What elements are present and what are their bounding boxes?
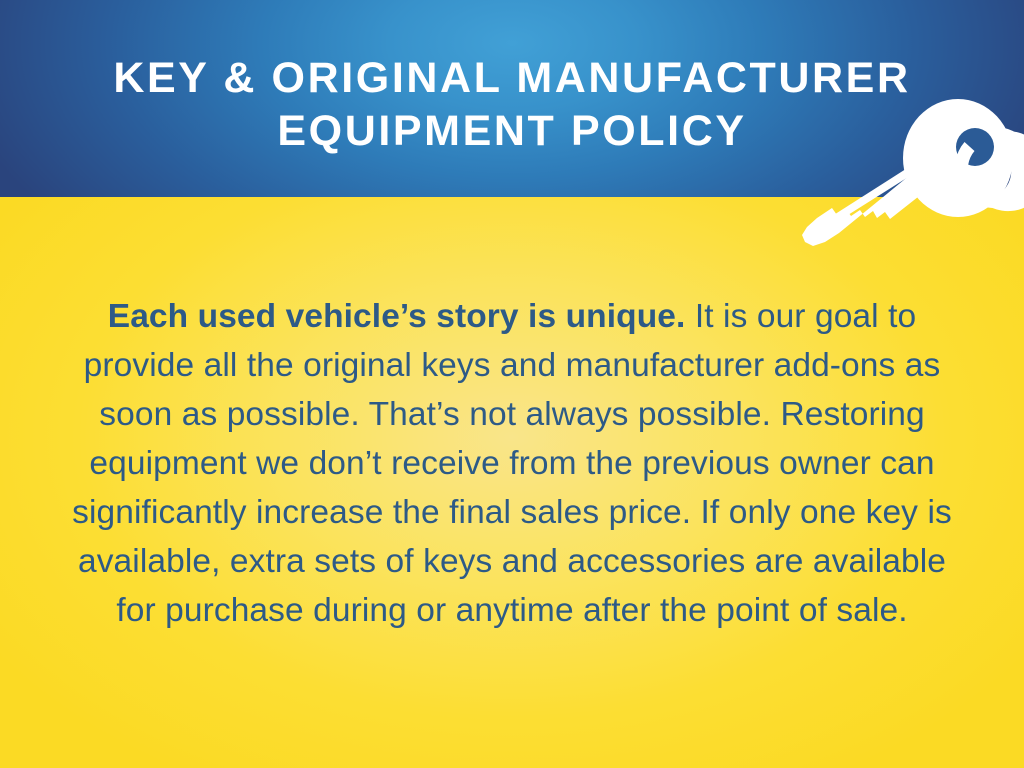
page-title: Key & Original Manufacturer Equipment Po… [0,52,1024,158]
policy-poster: Key & Original Manufacturer Equipment Po… [0,0,1024,768]
policy-paragraph: It is our goal to provide all the origin… [72,298,952,629]
policy-lead-sentence: Each used vehicle’s story is unique. [108,298,686,335]
header-banner: Key & Original Manufacturer Equipment Po… [0,0,1024,197]
policy-body-text: Each used vehicle’s story is unique. It … [62,292,962,635]
